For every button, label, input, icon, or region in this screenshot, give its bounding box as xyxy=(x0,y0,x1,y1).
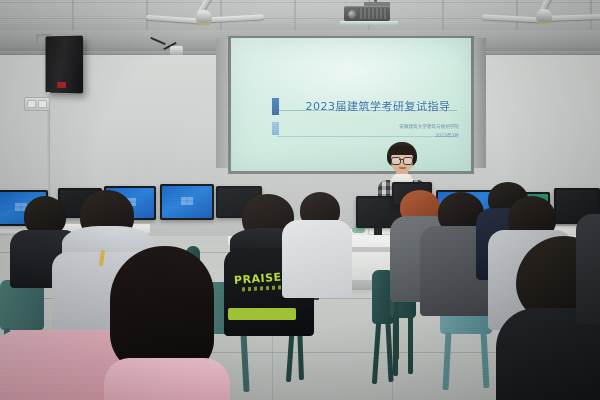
slide-title: 2023届建筑学考研复试指导 xyxy=(297,98,459,114)
slide-accent-bar-dark xyxy=(272,98,279,115)
hoodie-hem-accent xyxy=(228,308,296,320)
slide-subtitle: 安徽建筑大学建筑与规划学院 2023年3月 xyxy=(351,124,459,141)
classroom-photo: 2023届建筑学考研复试指导 安徽建筑大学建筑与规划学院 2023年3月 xyxy=(0,0,600,400)
glasses-icon xyxy=(403,157,413,165)
torso xyxy=(282,220,352,298)
projector-icon xyxy=(344,2,400,24)
speaker-brand-mark xyxy=(57,82,66,88)
projection-screen: 2023届建筑学考研复试指导 安徽建筑大学建筑与规划学院 2023年3月 xyxy=(231,38,471,171)
presenter-fringe xyxy=(389,146,415,155)
ceiling-fan-right-icon xyxy=(490,0,600,32)
torso xyxy=(576,214,600,324)
slide-subtitle-line1: 安徽建筑大学建筑与规划学院 xyxy=(351,124,459,133)
student-long-hair xyxy=(100,246,230,400)
student-right-edge xyxy=(576,214,600,324)
monitor xyxy=(160,184,214,220)
ceiling-mic-module xyxy=(170,46,183,55)
glasses-bridge xyxy=(399,159,403,160)
monitor-stand xyxy=(374,228,382,235)
slide-subtitle-line2: 2023年3月 xyxy=(351,133,459,142)
slide-accent-bar-light xyxy=(272,122,279,135)
ceiling-fan-left-icon xyxy=(150,0,260,30)
torso xyxy=(104,358,230,400)
light-switch-panel[interactable] xyxy=(24,97,50,111)
student-white-hoodie xyxy=(286,192,350,296)
hair xyxy=(110,246,214,374)
speaker-bracket xyxy=(36,34,52,48)
presenter-mouth xyxy=(399,167,406,169)
